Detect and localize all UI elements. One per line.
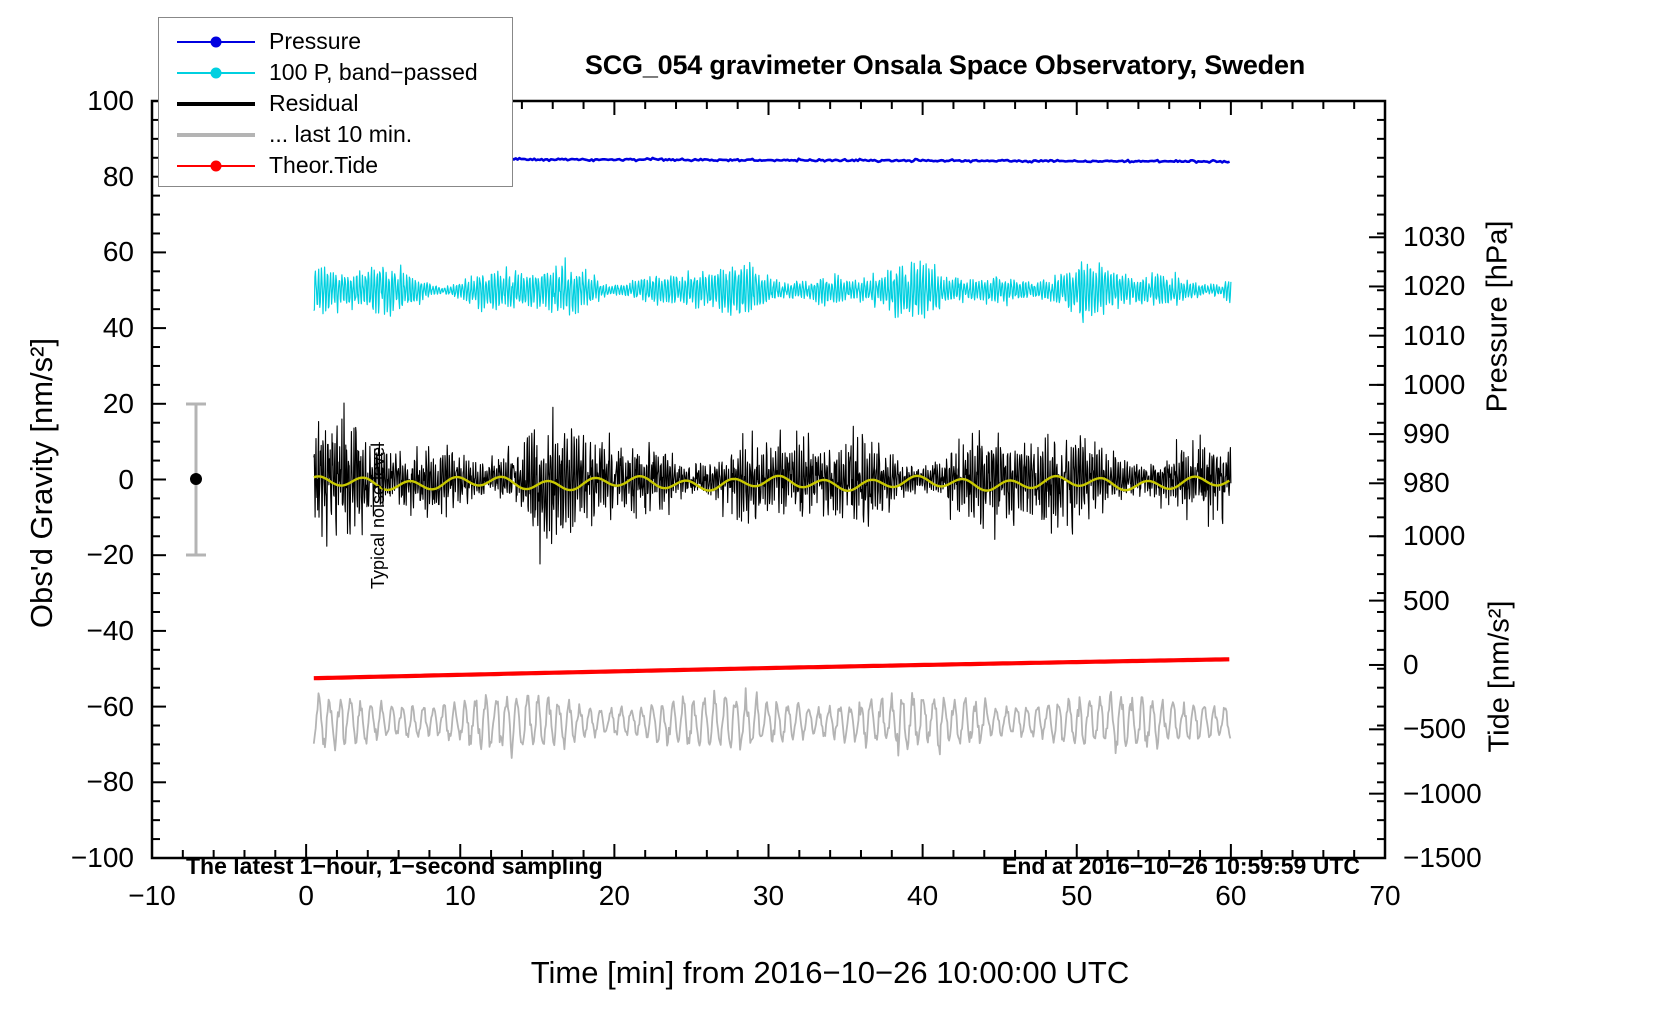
legend-marker-icon — [211, 36, 222, 47]
tick-label: −10 — [128, 880, 176, 912]
tick-label: 1010 — [1403, 320, 1465, 352]
tick-label: −60 — [87, 691, 135, 723]
tick-label: 50 — [1061, 880, 1092, 912]
tick-label: 1000 — [1403, 520, 1465, 552]
legend-marker-icon — [211, 67, 222, 78]
legend-label: Pressure — [255, 28, 361, 55]
legend[interactable]: Pressure100 P, band−passedResidual... la… — [158, 17, 513, 187]
tick-label: 30 — [753, 880, 784, 912]
tick-label: 40 — [103, 312, 134, 344]
tick-label: 1000 — [1403, 369, 1465, 401]
tick-label: 0 — [118, 464, 134, 496]
tick-label: 10 — [445, 880, 476, 912]
legend-label: Theor.Tide — [255, 152, 378, 179]
tick-label: 80 — [103, 161, 134, 193]
legend-label: 100 P, band−passed — [255, 59, 478, 86]
legend-label: Residual — [255, 90, 359, 117]
tick-label: −1500 — [1403, 842, 1482, 874]
legend-marker-icon — [211, 160, 222, 171]
tick-label: −1000 — [1403, 778, 1482, 810]
tick-label: 0 — [1403, 649, 1419, 681]
legend-swatch — [177, 125, 255, 145]
tick-label: −500 — [1403, 713, 1466, 745]
legend-swatch — [177, 63, 255, 83]
tick-label: −80 — [87, 766, 135, 798]
legend-item[interactable]: Pressure — [159, 26, 512, 57]
chart-canvas: SCG_054 gravimeter Onsala Space Observat… — [0, 0, 1660, 1020]
tick-label: −40 — [87, 615, 135, 647]
footer-right-text: End at 2016−10−26 10:59:59 UTC — [1002, 853, 1360, 880]
noise-level-label: Typical noise level — [368, 389, 389, 589]
tick-label: 1020 — [1403, 270, 1465, 302]
tick-label: 70 — [1369, 880, 1400, 912]
legend-swatch — [177, 156, 255, 176]
tick-label: 20 — [103, 388, 134, 420]
tick-label: 60 — [103, 236, 134, 268]
tick-label: 100 — [87, 85, 134, 117]
tick-label: 60 — [1215, 880, 1246, 912]
tick-label: 20 — [599, 880, 630, 912]
tick-label: −20 — [87, 539, 135, 571]
legend-line-icon — [177, 102, 255, 106]
legend-line-icon — [177, 133, 255, 137]
legend-label: ... last 10 min. — [255, 121, 412, 148]
tick-label: 500 — [1403, 585, 1450, 617]
tick-label: 40 — [907, 880, 938, 912]
tick-label: 0 — [298, 880, 314, 912]
footer-left-text: The latest 1−hour, 1−second sampling — [186, 853, 603, 880]
legend-item[interactable]: Residual — [159, 88, 512, 119]
legend-swatch — [177, 32, 255, 52]
legend-item[interactable]: Theor.Tide — [159, 150, 512, 181]
tick-label: −100 — [71, 842, 134, 874]
tick-label: 990 — [1403, 418, 1450, 450]
legend-swatch — [177, 94, 255, 114]
tick-label: 1030 — [1403, 221, 1465, 253]
legend-item[interactable]: 100 P, band−passed — [159, 57, 512, 88]
legend-item[interactable]: ... last 10 min. — [159, 119, 512, 150]
noise-center-dot — [190, 473, 202, 485]
tick-label: 980 — [1403, 467, 1450, 499]
